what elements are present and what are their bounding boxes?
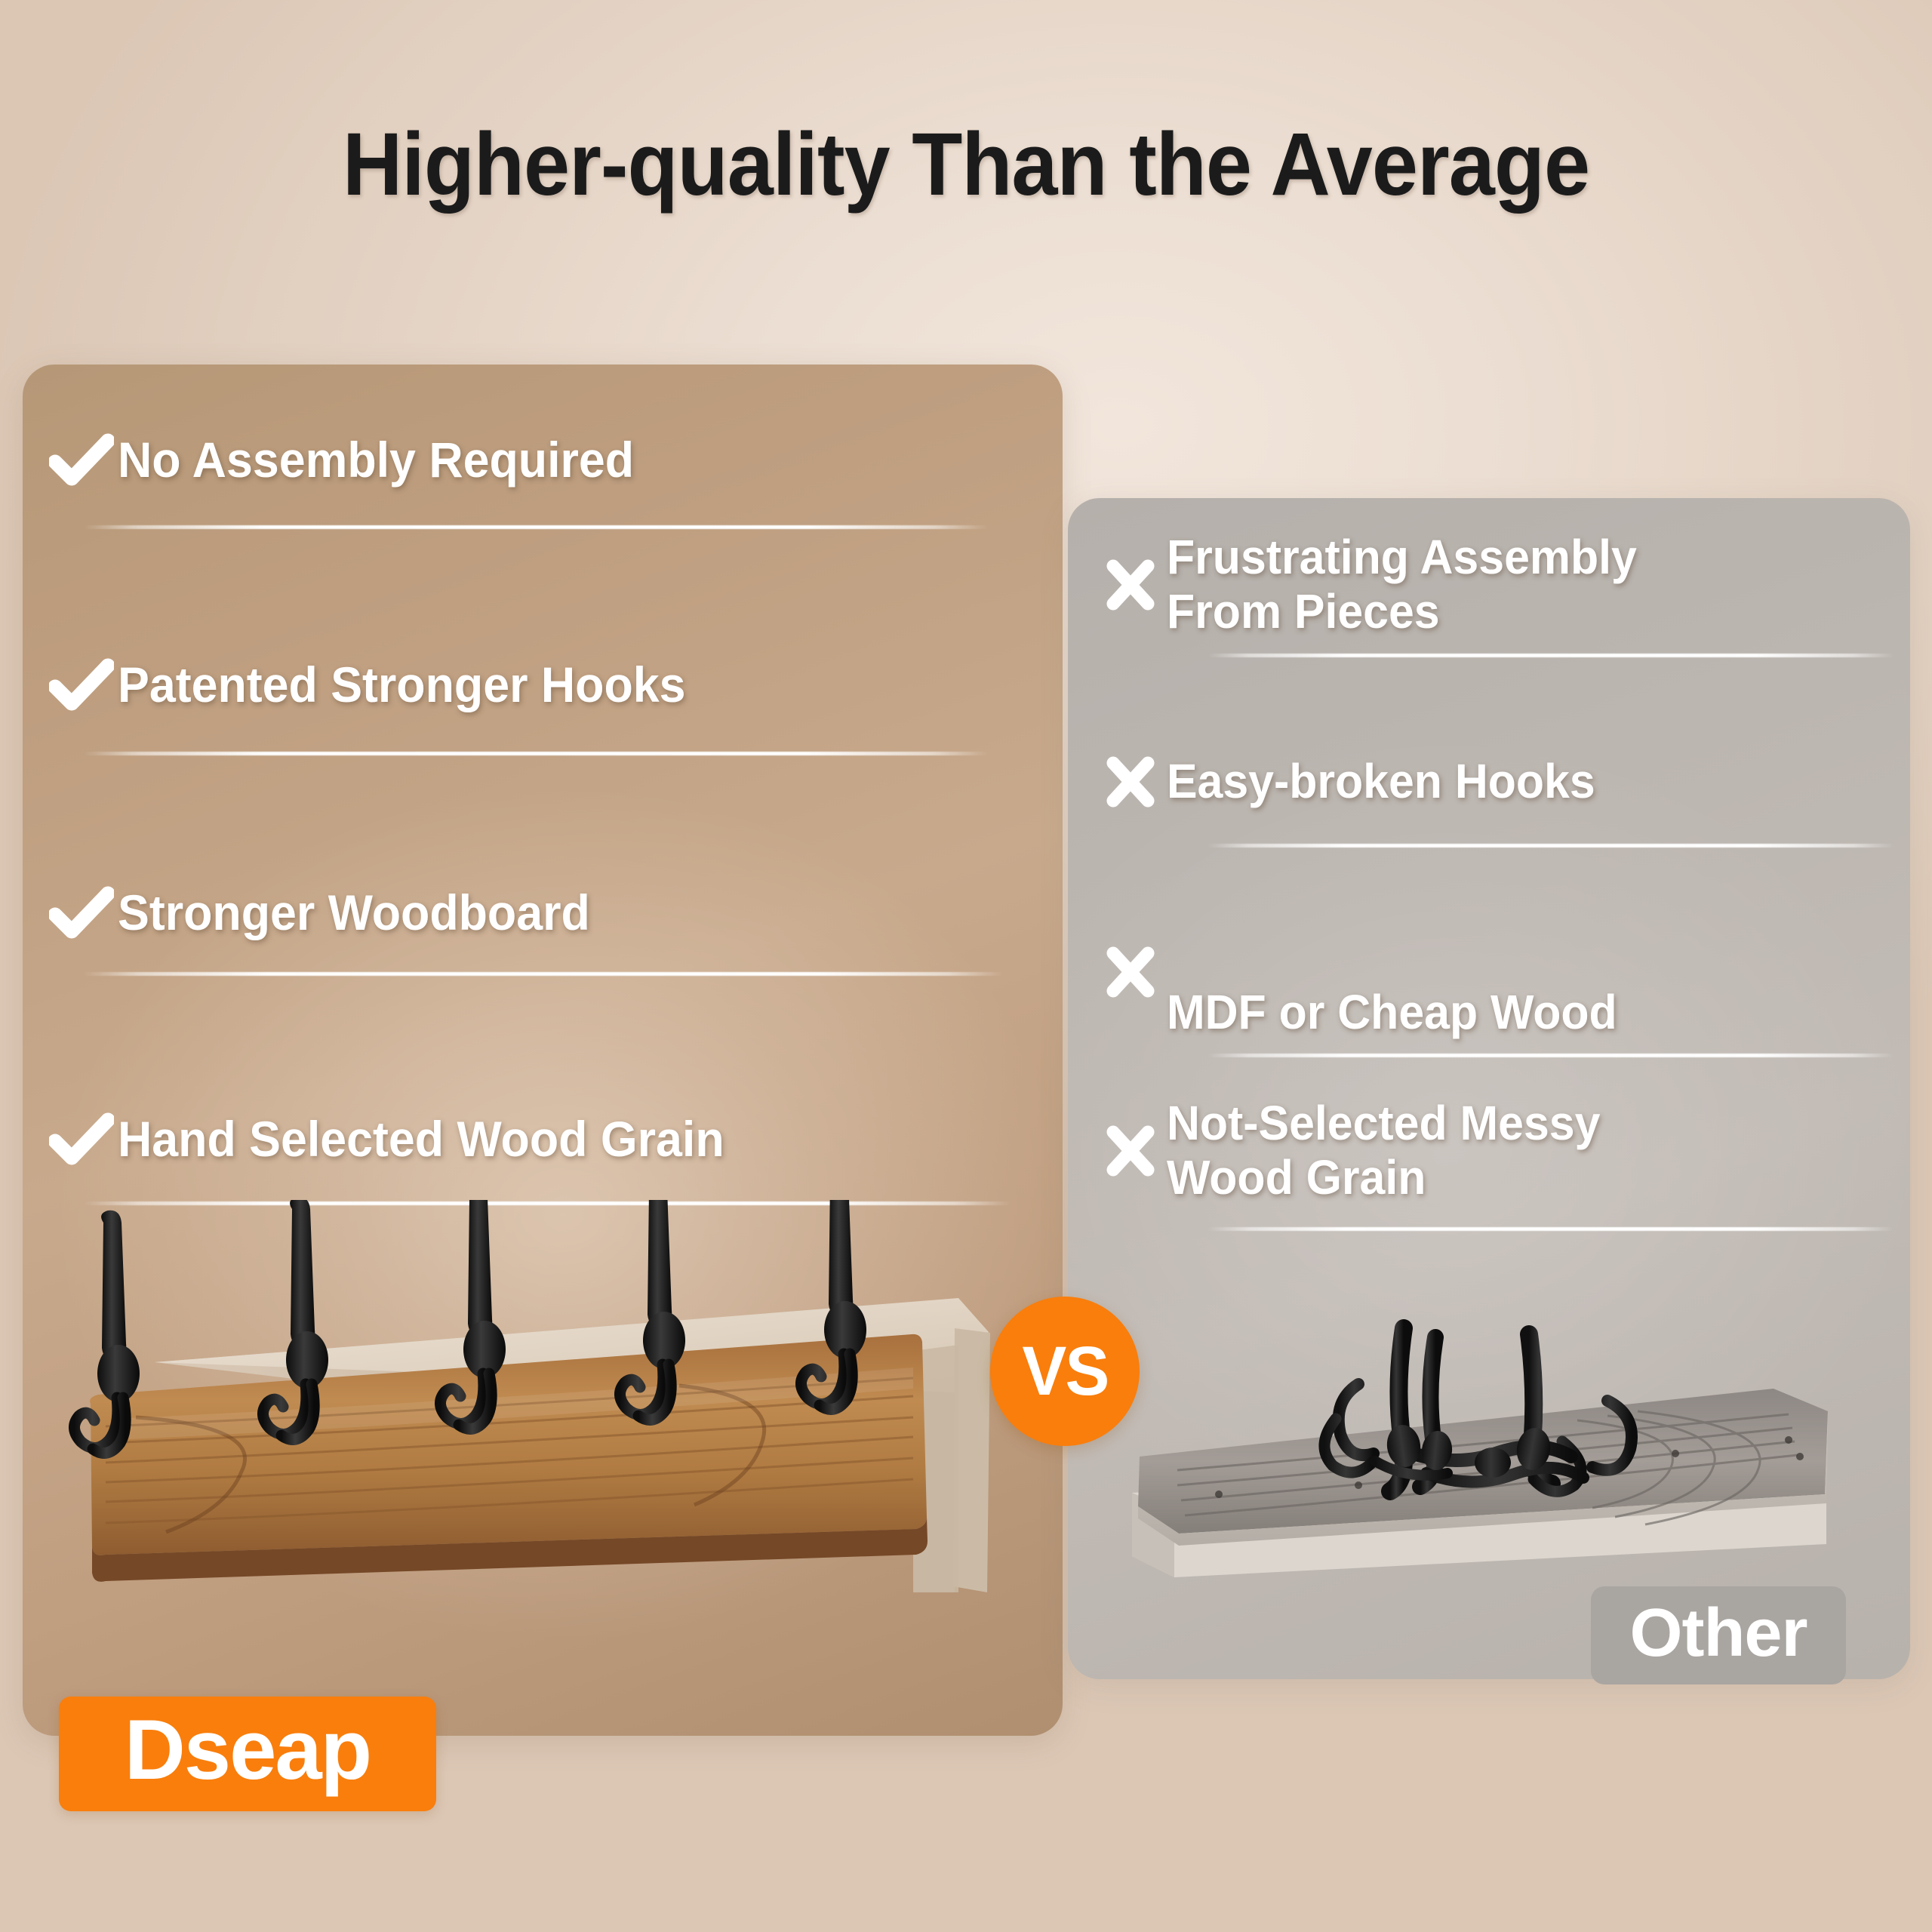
bad-feature-label-3: MDF or Cheap Wood — [1167, 986, 1617, 1040]
dseap-brand-label: Dseap — [125, 1708, 371, 1800]
bad-divider-2 — [1207, 844, 1894, 848]
bad-divider-1 — [1207, 654, 1894, 657]
good-feature-label-1: No Assembly Required — [118, 432, 634, 488]
other-product-image — [1109, 1306, 1872, 1607]
page-title: Higher-quality Than the Average — [68, 113, 1865, 216]
dseap-brand-badge: Dseap — [59, 1697, 436, 1811]
checkmark-icon — [45, 1112, 118, 1167]
bad-divider-4 — [1207, 1227, 1894, 1231]
bad-feature-row-3: MDF or Cheap Wood — [1094, 942, 1917, 1040]
cross-icon — [1094, 558, 1167, 612]
vs-badge: VS — [990, 1297, 1140, 1446]
dseap-product-image — [15, 1200, 1019, 1607]
bad-feature-row-2: Easy-broken Hooks — [1094, 746, 1917, 818]
checkmark-icon — [45, 658, 118, 712]
bad-divider-3 — [1207, 1054, 1894, 1057]
other-brand-badge: Other — [1591, 1586, 1846, 1684]
good-divider-2 — [83, 752, 989, 755]
good-feature-label-3: Stronger Woodboard — [118, 885, 590, 941]
good-feature-label-4: Hand Selected Wood Grain — [118, 1112, 724, 1168]
other-brand-label: Other — [1629, 1599, 1807, 1672]
good-feature-row-1: No Assembly Required — [45, 424, 1041, 497]
cross-icon — [1094, 942, 1167, 999]
cross-icon — [1094, 1124, 1167, 1178]
bad-feature-row-1: Frustrating Assembly From Pieces — [1094, 521, 1917, 649]
bad-feature-label-1: Frustrating Assembly From Pieces — [1167, 531, 1637, 638]
bad-feature-row-4: Not-Selected Messy Wood Grain — [1094, 1087, 1917, 1215]
good-divider-3 — [83, 972, 1004, 976]
good-feature-row-2: Patented Stronger Hooks — [45, 649, 1041, 721]
checkmark-icon — [45, 433, 118, 488]
checkmark-icon — [45, 886, 118, 940]
bad-feature-label-2: Easy-broken Hooks — [1167, 755, 1595, 809]
vs-label: VS — [1022, 1332, 1108, 1411]
bad-feature-label-4: Not-Selected Messy Wood Grain — [1167, 1097, 1600, 1204]
good-feature-row-4: Hand Selected Wood Grain — [45, 1103, 1057, 1176]
good-feature-label-2: Patented Stronger Hooks — [118, 657, 686, 713]
good-feature-row-3: Stronger Woodboard — [45, 877, 1041, 949]
good-divider-1 — [83, 525, 989, 529]
cross-icon — [1094, 755, 1167, 809]
